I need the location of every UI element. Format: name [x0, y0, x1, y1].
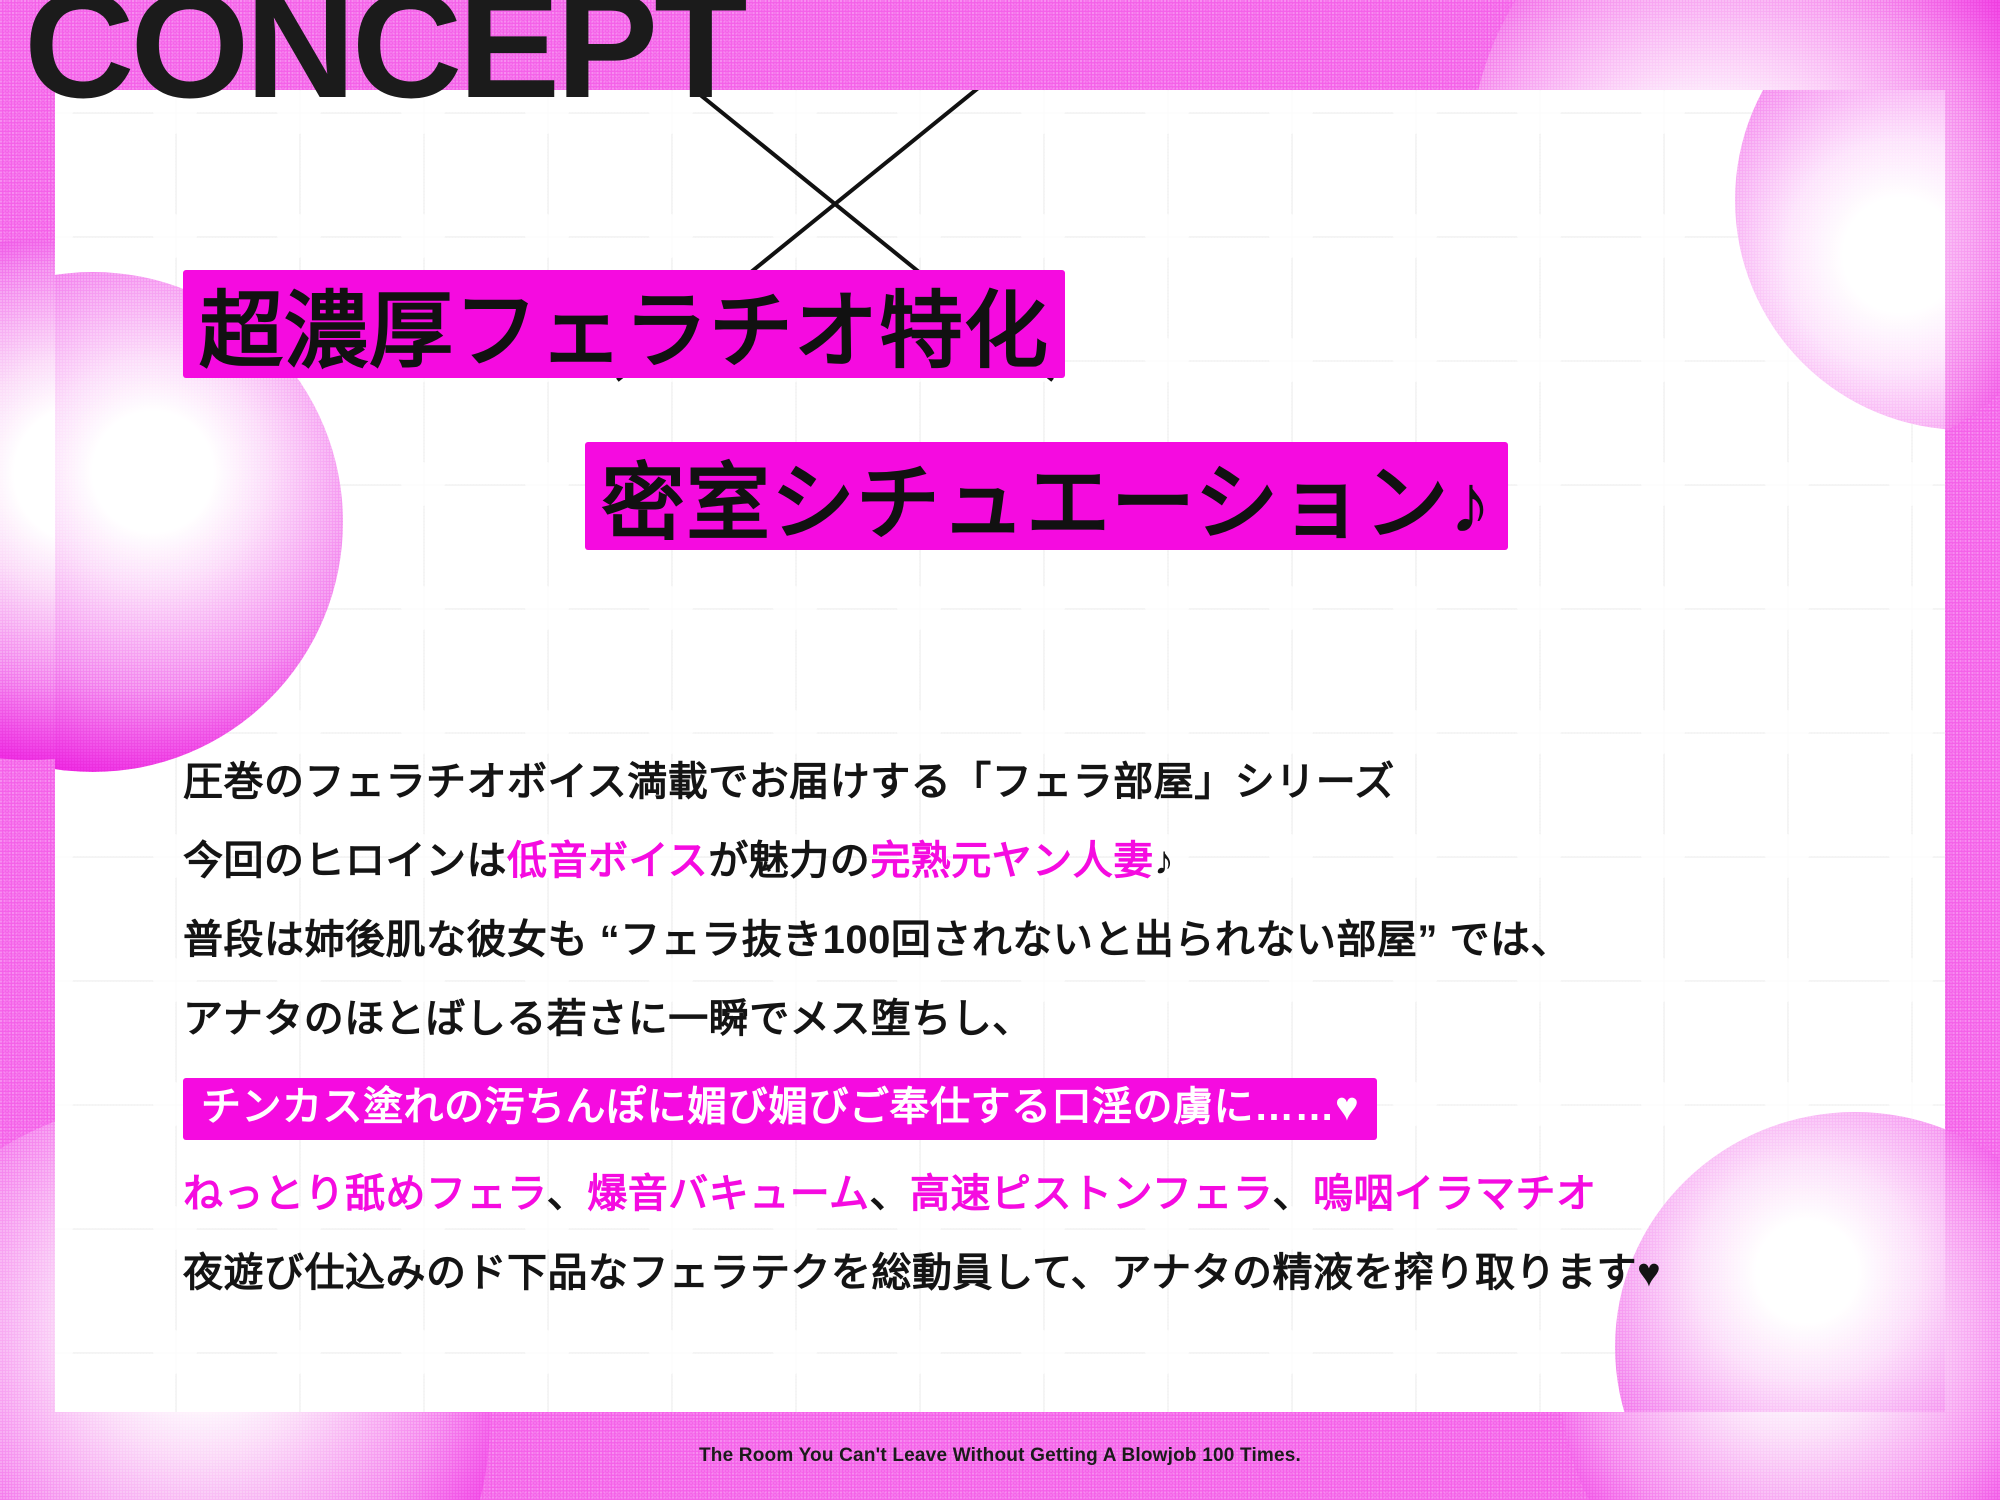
sparkle-icon — [1641, 90, 1685, 134]
sparkle-icon — [649, 586, 693, 630]
sparkle-icon — [525, 1330, 569, 1374]
sparkle-icon — [1393, 338, 1437, 382]
sparkle-icon — [649, 214, 693, 258]
sparkle-icon — [401, 1330, 445, 1374]
technique-4: 嗚咽イラマチオ — [1313, 1172, 1597, 1216]
sparkle-icon — [1889, 958, 1933, 1002]
sparkle-icon — [401, 214, 445, 258]
sparkle-icon — [1765, 338, 1809, 382]
sparkle-icon — [1765, 586, 1809, 630]
footer-caption: The Room You Can't Leave Without Getting… — [0, 1412, 2000, 1500]
sparkle-icon — [1517, 710, 1561, 754]
sparkle-icon — [1641, 710, 1685, 754]
poster-stage: 超濃厚フェラチオ特化 密室シチュエーション♪ 圧巻のフェラチオボイス満載でお届け… — [0, 0, 2000, 1500]
body-line-4: アナタのほとばしる若さに一瞬でメス堕ちし、 — [183, 999, 1783, 1039]
headline-box-2: 密室シチュエーション♪ — [585, 442, 1508, 550]
sparkle-icon — [1641, 462, 1685, 506]
sparkle-icon — [1889, 586, 1933, 630]
sparkle-icon — [1021, 214, 1065, 258]
sparkle-icon — [525, 710, 569, 754]
sparkle-icon — [1641, 214, 1685, 258]
page-title: CONCEPT — [24, 0, 743, 120]
sparkle-icon — [1021, 586, 1065, 630]
headline-box-1: 超濃厚フェラチオ特化 — [183, 270, 1065, 378]
sparkle-icon — [1145, 338, 1189, 382]
technique-sep-2: 、 — [870, 1172, 911, 1216]
body-banner-text: チンカス塗れの汚ちんぽに媚び媚びご奉仕する口淫の虜に……♥ — [183, 1078, 1377, 1140]
sparkle-icon — [897, 586, 941, 630]
technique-2: 爆音バキューム — [587, 1172, 869, 1216]
sparkle-icon — [1393, 1330, 1437, 1374]
sparkle-icon — [1393, 586, 1437, 630]
technique-sep-1: 、 — [547, 1172, 588, 1216]
sparkle-icon — [1145, 1330, 1189, 1374]
body-banner-row: チンカス塗れの汚ちんぽに媚び媚びご奉仕する口淫の虜に……♥ — [183, 1078, 1783, 1140]
sparkle-icon — [1269, 1330, 1313, 1374]
sparkle-icon — [525, 214, 569, 258]
sparkle-icon — [1393, 710, 1437, 754]
sparkle-icon — [649, 710, 693, 754]
technique-1: ねっとり舐めフェラ — [183, 1172, 547, 1216]
sparkle-icon — [1145, 586, 1189, 630]
sparkle-icon — [1145, 90, 1189, 134]
sparkle-icon — [773, 1330, 817, 1374]
line2-segment-1: 今回のヒロインは — [183, 839, 507, 883]
sparkle-icon — [1517, 462, 1561, 506]
line2-segment-3: ♪ — [1154, 839, 1175, 883]
sparkle-icon — [1517, 338, 1561, 382]
sparkle-icon — [1889, 90, 1933, 134]
sparkle-icon — [1765, 710, 1809, 754]
body-copy: 圧巻のフェラチオボイス満載でお届けする「フェラ部屋」シリーズ 今回のヒロインは低… — [183, 762, 1783, 1332]
sparkle-icon — [1889, 710, 1933, 754]
sparkle-icon — [153, 462, 197, 506]
sparkle-icon — [277, 710, 321, 754]
content-card: 超濃厚フェラチオ特化 密室シチュエーション♪ 圧巻のフェラチオボイス満載でお届け… — [55, 90, 1945, 1412]
sparkle-icon — [1269, 710, 1313, 754]
sparkle-icon — [1269, 586, 1313, 630]
sparkle-icon — [1145, 710, 1189, 754]
sparkle-icon — [277, 214, 321, 258]
sparkle-icon — [1517, 1330, 1561, 1374]
sparkle-icon — [55, 1206, 73, 1250]
sparkle-icon — [1641, 1330, 1685, 1374]
sparkle-icon — [1765, 214, 1809, 258]
sparkle-icon — [55, 1082, 73, 1126]
sparkle-icon — [401, 462, 445, 506]
sparkle-icon — [1021, 90, 1065, 134]
body-line-6: 夜遊び仕込みのド下品なフェラテクを総動員して、アナタの精液を搾り取ります♥ — [183, 1253, 1783, 1293]
sparkle-icon — [153, 214, 197, 258]
line2-accent-2: 完熟元ヤン人妻 — [870, 839, 1154, 883]
sparkle-icon — [55, 834, 73, 878]
sparkle-icon — [773, 90, 817, 134]
sparkle-icon — [897, 214, 941, 258]
sparkle-icon — [1393, 214, 1437, 258]
sparkle-icon — [277, 586, 321, 630]
body-line-2: 今回のヒロインは低音ボイスが魅力の完熟元ヤン人妻♪ — [183, 841, 1783, 881]
sparkle-icon — [1889, 1330, 1933, 1374]
sparkle-icon — [55, 958, 73, 1002]
sparkle-icon — [1641, 338, 1685, 382]
sparkle-icon — [1269, 90, 1313, 134]
sparkle-icon — [401, 586, 445, 630]
headline-2-text: 密室シチュエーション♪ — [601, 436, 1492, 557]
sparkle-icon — [897, 1330, 941, 1374]
sparkle-icon — [649, 1330, 693, 1374]
sparkle-icon — [773, 586, 817, 630]
sparkle-icon — [1889, 214, 1933, 258]
sparkle-icon — [1889, 338, 1933, 382]
sparkle-icon — [277, 462, 321, 506]
sparkle-icon — [55, 710, 73, 754]
headline-1-text: 超濃厚フェラチオ特化 — [199, 264, 1049, 385]
sparkle-icon — [55, 1330, 73, 1374]
technique-3: 高速ピストンフェラ — [910, 1172, 1273, 1216]
sparkle-icon — [1889, 834, 1933, 878]
sparkle-icon — [401, 710, 445, 754]
line2-segment-2: が魅力の — [708, 839, 870, 883]
sparkle-icon — [1889, 1206, 1933, 1250]
technique-sep-3: 、 — [1273, 1172, 1314, 1216]
sparkle-icon — [153, 1330, 197, 1374]
sparkle-icon — [1765, 462, 1809, 506]
sparkle-icon — [55, 338, 73, 382]
footer-text: The Room You Can't Leave Without Getting… — [699, 1445, 1301, 1467]
sparkle-icon — [55, 586, 73, 630]
sparkle-icon — [1889, 1082, 1933, 1126]
sparkle-icon — [1021, 1330, 1065, 1374]
sparkle-icon — [1269, 214, 1313, 258]
sparkle-icon — [1765, 90, 1809, 134]
sparkle-icon — [1889, 462, 1933, 506]
sparkle-icon — [1517, 214, 1561, 258]
sparkle-icon — [55, 214, 73, 258]
sparkle-icon — [897, 710, 941, 754]
sparkle-icon — [1145, 214, 1189, 258]
card-glow-right — [1735, 90, 1945, 430]
body-line-5: ねっとり舐めフェラ、爆音バキューム、高速ピストンフェラ、嗚咽イラマチオ — [183, 1174, 1783, 1214]
sparkle-icon — [1517, 90, 1561, 134]
sparkle-icon — [153, 710, 197, 754]
sparkle-icon — [525, 462, 569, 506]
sparkle-icon — [773, 710, 817, 754]
body-line-3: 普段は姉後肌な彼女も “フェラ抜き100回されないと出られない部屋” では、 — [183, 920, 1783, 960]
sparkle-icon — [525, 586, 569, 630]
sparkle-icon — [1765, 1330, 1809, 1374]
sparkle-icon — [55, 462, 73, 506]
line2-accent-1: 低音ボイス — [507, 839, 708, 883]
sparkle-icon — [1269, 338, 1313, 382]
sparkle-icon — [897, 90, 941, 134]
sparkle-icon — [1517, 586, 1561, 630]
sparkle-icon — [277, 1330, 321, 1374]
sparkle-icon — [1393, 90, 1437, 134]
sparkle-icon — [153, 586, 197, 630]
body-line-1: 圧巻のフェラチオボイス満載でお届けする「フェラ部屋」シリーズ — [183, 762, 1783, 802]
sparkle-icon — [1021, 710, 1065, 754]
sparkle-icon — [1641, 586, 1685, 630]
